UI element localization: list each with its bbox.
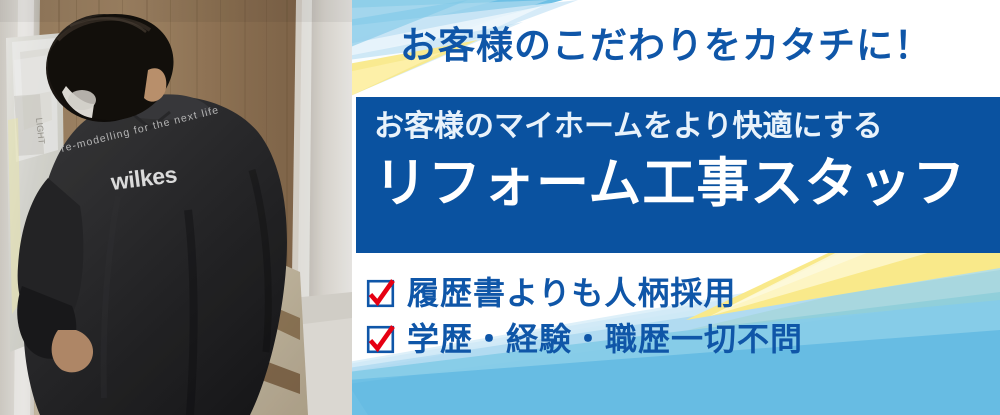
worker-photo: LIGHT bbox=[0, 0, 352, 415]
checkmark-icon bbox=[366, 325, 395, 354]
worker-photo-svg: LIGHT bbox=[0, 0, 352, 415]
job-title: リフォーム工事スタッフ bbox=[374, 155, 966, 213]
benefits-checklist: 履歴書よりも人柄採用 学歴・経験・職歴一切不問 bbox=[366, 276, 926, 368]
list-item-label: 履歴書よりも人柄採用 bbox=[407, 276, 736, 311]
list-item: 履歴書よりも人柄採用 bbox=[366, 276, 926, 311]
checkmark-icon bbox=[366, 279, 395, 308]
list-item-label: 学歴・経験・職歴一切不問 bbox=[407, 322, 803, 357]
job-title-block: お客様のマイホームをより快適にする リフォーム工事スタッフ bbox=[356, 97, 1000, 253]
checkmark-icon-svg bbox=[366, 279, 395, 308]
recruitment-banner: LIGHT bbox=[0, 0, 1000, 415]
list-item: 学歴・経験・職歴一切不問 bbox=[366, 322, 926, 357]
page-title: お客様のこだわりをカタチに！ bbox=[400, 26, 980, 67]
job-subtitle: お客様のマイホームをより快適にする bbox=[374, 110, 883, 143]
checkmark-icon-svg bbox=[366, 325, 395, 354]
